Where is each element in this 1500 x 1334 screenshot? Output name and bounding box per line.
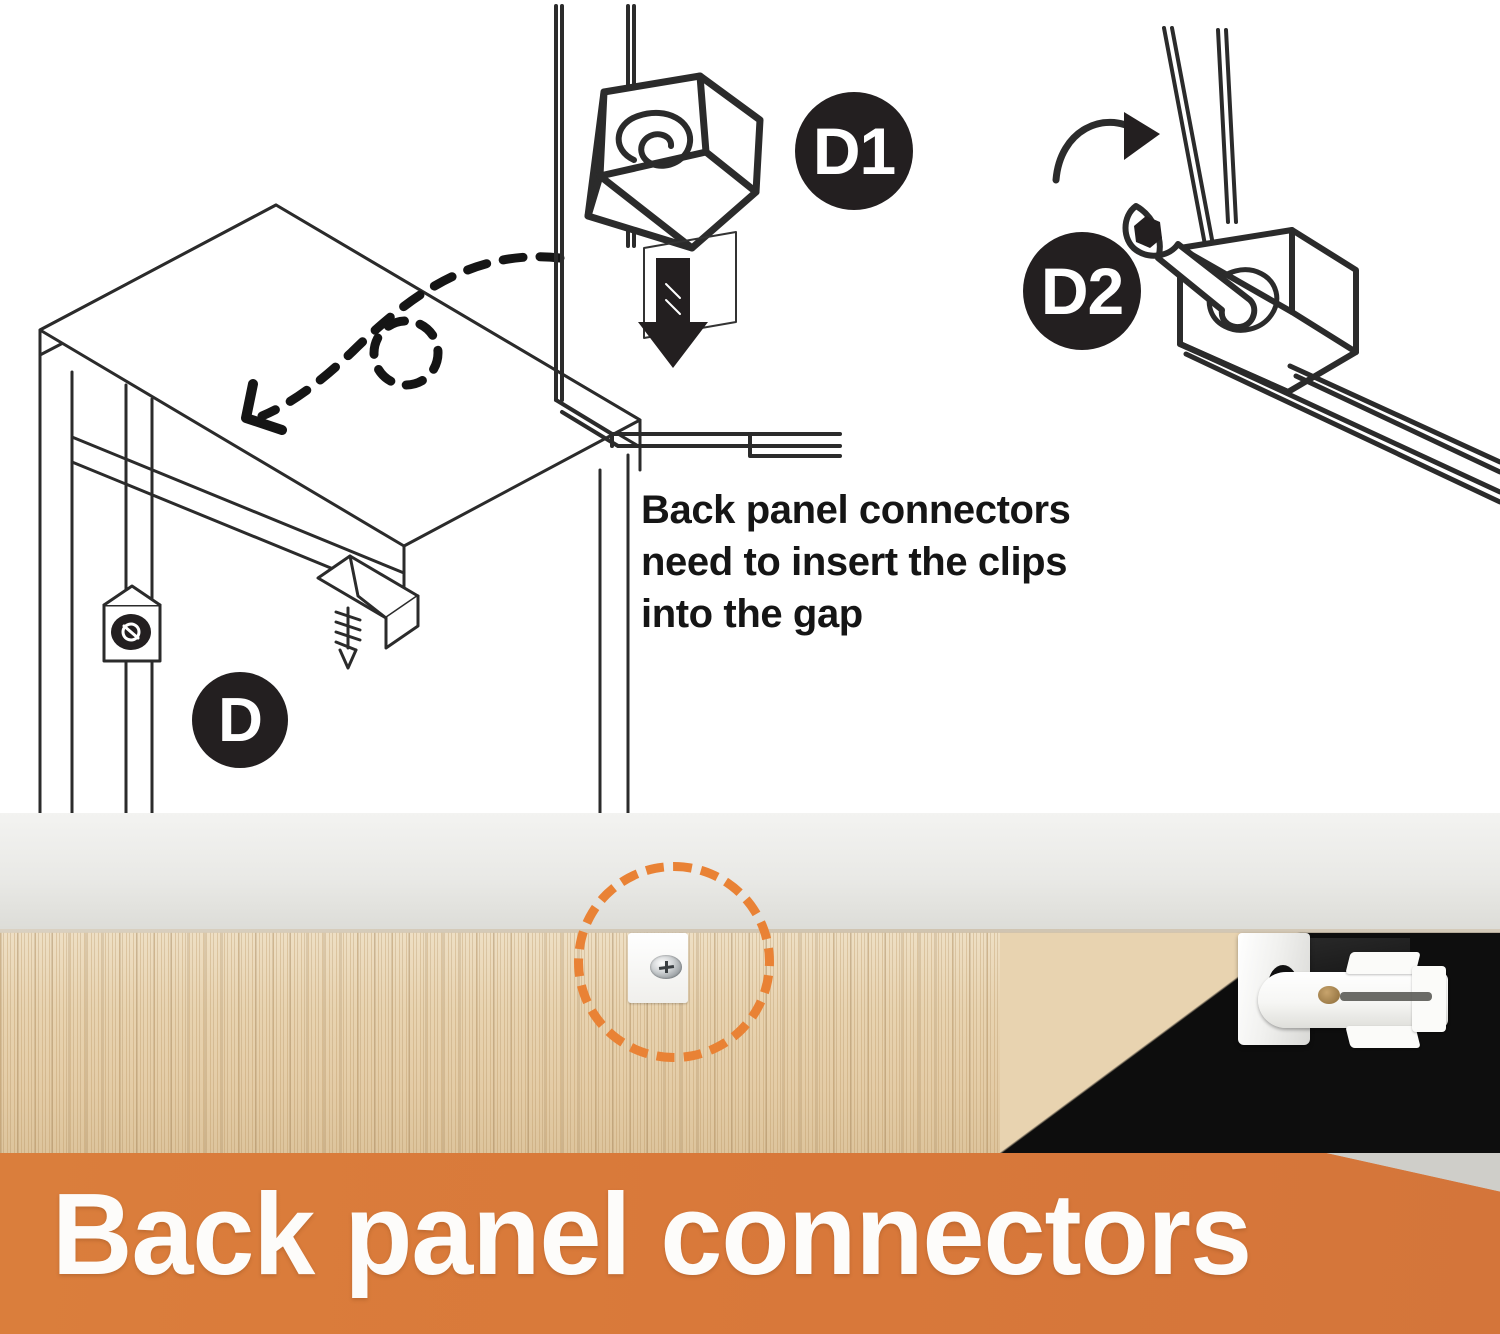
assembly-diagram: D D1 D2 Back panel connectors need to in… (0, 0, 1500, 813)
badge-d1: D1 (795, 92, 913, 210)
clip-slot (1340, 992, 1432, 1001)
clip-wing-top (1345, 952, 1420, 974)
instruction-sheet: D D1 D2 Back panel connectors need to in… (0, 0, 1500, 1334)
highlight-circle (574, 862, 774, 1062)
clip-screw (1318, 986, 1340, 1004)
clip-wing-bottom (1345, 1026, 1420, 1048)
instruction-line-2: need to insert the clips (641, 536, 1201, 588)
desk-outline (40, 205, 640, 813)
d1-insert-arrow (638, 258, 708, 368)
screw-icon (336, 608, 360, 668)
instruction-text: Back panel connectors need to insert the… (641, 484, 1201, 640)
banner-title: Back panel connectors (52, 1167, 1415, 1301)
d2-connector-block (1180, 230, 1356, 392)
instruction-line-1: Back panel connectors (641, 484, 1201, 536)
title-banner: Back panel connectors (0, 1153, 1500, 1334)
rotation-arrowhead (1124, 112, 1160, 160)
instruction-line-3: into the gap (641, 588, 1201, 640)
d2-panel-edges (1164, 28, 1236, 250)
d2-rails (1180, 344, 1500, 502)
badge-d2: D2 (1023, 232, 1141, 350)
badge-d: D (192, 672, 288, 768)
